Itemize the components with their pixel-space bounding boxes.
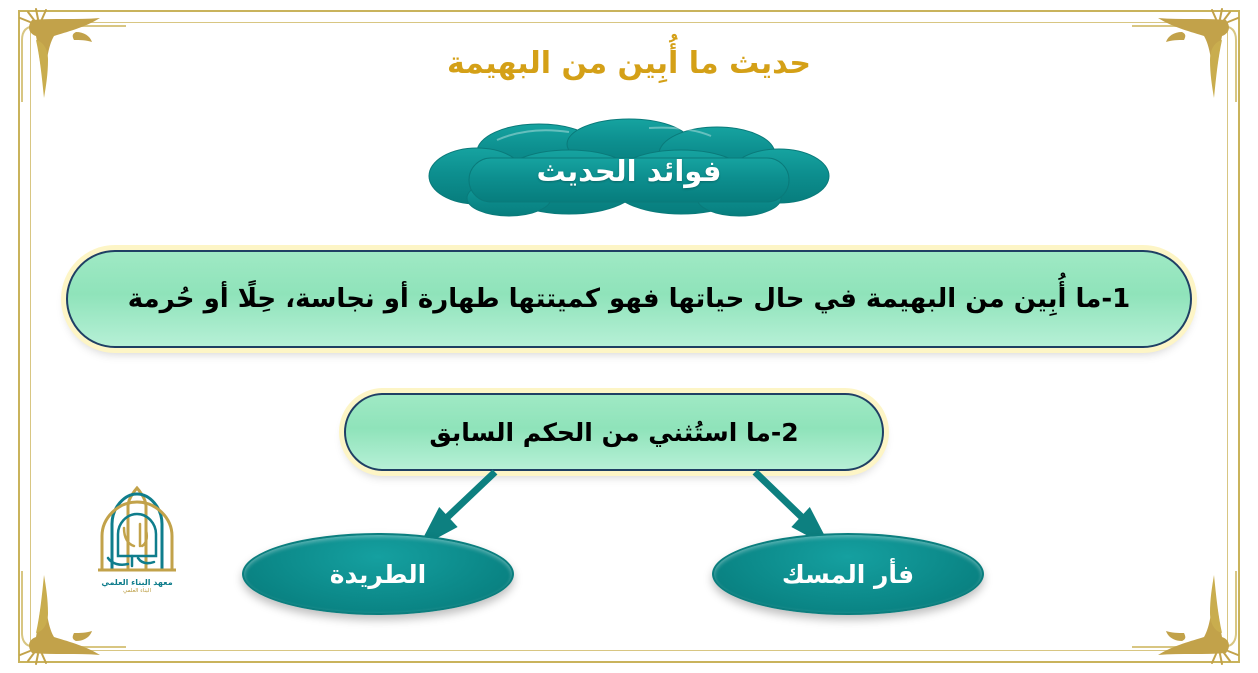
point-1-text: 1-ما أُبِين من البهيمة في حال حياتها فهو… (128, 284, 1131, 314)
page-title: حديث ما أُبِين من البهيمة (0, 46, 1258, 81)
point-1-box: 1-ما أُبِين من البهيمة في حال حياتها فهو… (66, 250, 1192, 348)
exception-right-ellipse: فأر المسك (712, 533, 984, 615)
corner-ornament-bottom-right (1126, 563, 1244, 667)
cloud-heading: فوائد الحديث (419, 118, 839, 218)
arrow-right-line (755, 472, 812, 527)
logo-subtitle: البناء العلمي (78, 588, 196, 594)
arrow-left-line (437, 472, 495, 527)
cloud-heading-label: فوائد الحديث (419, 118, 839, 218)
mosque-arch-logo-icon (78, 484, 196, 576)
exception-right-label: فأر المسك (782, 560, 914, 589)
institute-logo: معهد البناء العلمي البناء العلمي (78, 484, 196, 612)
exception-left-ellipse: الطريدة (242, 533, 514, 615)
exception-left-label: الطريدة (330, 560, 426, 589)
point-2-text: 2-ما استُثني من الحكم السابق (429, 418, 798, 447)
logo-name: معهد البناء العلمي (78, 578, 196, 587)
point-2-box: 2-ما استُثني من الحكم السابق (344, 393, 884, 471)
